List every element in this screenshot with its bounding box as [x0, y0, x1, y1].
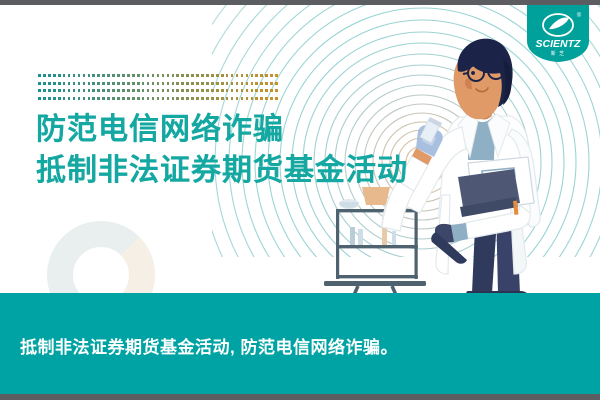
- grid-dot: [216, 82, 219, 85]
- grid-dot: [275, 82, 278, 85]
- grid-dot: [172, 82, 175, 85]
- grid-dot: [38, 97, 41, 100]
- grid-dot: [43, 97, 46, 100]
- grid-dot: [206, 82, 209, 85]
- grid-dot: [270, 74, 273, 77]
- grid-dot: [38, 82, 41, 85]
- grid-dot: [186, 89, 189, 92]
- grid-dot: [53, 74, 56, 77]
- grid-dot: [255, 74, 258, 77]
- grid-dot: [58, 97, 61, 100]
- grid-dot: [216, 74, 219, 77]
- grid-dot: [73, 74, 76, 77]
- grid-dot: [172, 74, 175, 77]
- grid-dot: [38, 89, 41, 92]
- grid-dot: [260, 82, 263, 85]
- grid-dot: [251, 74, 254, 77]
- grid-dot: [251, 89, 254, 92]
- grid-dot: [152, 82, 155, 85]
- grid-dot: [221, 74, 224, 77]
- grid-dot: [241, 89, 244, 92]
- grid-dot: [83, 97, 86, 100]
- grid-dot: [58, 89, 61, 92]
- grid-dot: [147, 89, 150, 92]
- grid-dot: [73, 97, 76, 100]
- grid-dot: [176, 82, 179, 85]
- grid-dot: [226, 97, 229, 100]
- grid-dot: [162, 97, 165, 100]
- grid-dot: [117, 82, 120, 85]
- grid-dot: [112, 74, 115, 77]
- grid-dot: [167, 89, 170, 92]
- grid-dot: [221, 97, 224, 100]
- grid-dot: [43, 82, 46, 85]
- grid-dot: [241, 74, 244, 77]
- grid-dot: [112, 82, 115, 85]
- grid-dot: [216, 89, 219, 92]
- grid-dot: [246, 89, 249, 92]
- grid-dot: [48, 82, 51, 85]
- grid-dot: [216, 97, 219, 100]
- grid-dot: [122, 89, 125, 92]
- grid-dot: [48, 89, 51, 92]
- grid-dot: [88, 82, 91, 85]
- grid-dot: [265, 89, 268, 92]
- grid-dot: [78, 89, 81, 92]
- grid-dot: [157, 97, 160, 100]
- grid-dot: [63, 82, 66, 85]
- banner-slogan: 抵制非法证券期货基金活动, 防范电信网络诈骗。: [20, 333, 398, 358]
- grid-dot: [127, 82, 130, 85]
- grid-dot: [97, 82, 100, 85]
- grid-dot: [191, 97, 194, 100]
- grid-dot: [255, 89, 258, 92]
- grid-dot: [102, 89, 105, 92]
- grid-dot: [68, 89, 71, 92]
- poster-artboard: 防范电信网络诈骗 抵制非法证券期货基金活动: [0, 5, 600, 394]
- grid-dot: [211, 89, 214, 92]
- grid-dot: [88, 89, 91, 92]
- grid-dot: [137, 82, 140, 85]
- grid-dot: [92, 82, 95, 85]
- grid-dot: [112, 89, 115, 92]
- grid-dot: [83, 89, 86, 92]
- grid-dot: [107, 89, 110, 92]
- grid-dot: [127, 97, 130, 100]
- grid-dot: [92, 74, 95, 77]
- grid-dot: [68, 74, 71, 77]
- grid-dot: [226, 82, 229, 85]
- grid-dot: [176, 97, 179, 100]
- grid-dot: [181, 89, 184, 92]
- grid-dot: [157, 74, 160, 77]
- grid-dot: [117, 89, 120, 92]
- grid-dot: [270, 97, 273, 100]
- dot-grid-decoration: [37, 72, 279, 102]
- bottom-banner: 抵制非法证券期货基金活动, 防范电信网络诈骗。: [0, 293, 600, 394]
- grid-dot: [122, 97, 125, 100]
- grid-dot: [191, 82, 194, 85]
- grid-dot: [270, 82, 273, 85]
- grid-dot: [231, 89, 234, 92]
- grid-dot: [107, 82, 110, 85]
- grid-dot: [53, 82, 56, 85]
- grid-dot: [132, 97, 135, 100]
- grid-dot: [58, 82, 61, 85]
- grid-dot: [122, 82, 125, 85]
- grid-dot: [196, 74, 199, 77]
- grid-dot: [78, 82, 81, 85]
- grid-dot: [236, 89, 239, 92]
- grid-dot: [196, 89, 199, 92]
- grid-dot: [191, 74, 194, 77]
- grid-dot: [102, 74, 105, 77]
- grid-dot: [63, 74, 66, 77]
- grid-dot: [48, 97, 51, 100]
- grid-dot: [92, 97, 95, 100]
- grid-dot: [176, 74, 179, 77]
- grid-dot: [53, 97, 56, 100]
- grid-dot: [260, 97, 263, 100]
- grid-dot: [137, 97, 140, 100]
- grid-dot: [162, 89, 165, 92]
- grid-dot: [201, 82, 204, 85]
- grid-dot: [63, 89, 66, 92]
- headline-line-2: 抵制非法证券期货基金活动: [36, 150, 408, 191]
- grid-dot: [236, 74, 239, 77]
- grid-dot: [186, 74, 189, 77]
- grid-dot: [251, 82, 254, 85]
- grid-dot: [181, 74, 184, 77]
- grid-dot: [132, 89, 135, 92]
- page-title: 防范电信网络诈骗 抵制非法证券期货基金活动: [36, 109, 408, 192]
- grid-dot: [92, 89, 95, 92]
- grid-dot: [142, 74, 145, 77]
- grid-dot: [206, 97, 209, 100]
- headline-line-1: 防范电信网络诈骗: [36, 109, 408, 150]
- grid-dot: [167, 74, 170, 77]
- grid-dot: [211, 82, 214, 85]
- grid-dot: [181, 97, 184, 100]
- grid-dot: [176, 89, 179, 92]
- grid-dot: [236, 82, 239, 85]
- grid-dot: [132, 74, 135, 77]
- grid-dot: [275, 89, 278, 92]
- grid-dot: [147, 74, 150, 77]
- grid-dot: [196, 97, 199, 100]
- grid-dot: [127, 89, 130, 92]
- grid-dot: [211, 97, 214, 100]
- grid-dot: [206, 89, 209, 92]
- grid-dot: [43, 74, 46, 77]
- scientz-logo[interactable]: SCIENTZ 新 芝 ®: [527, 5, 589, 62]
- grid-dot: [58, 74, 61, 77]
- registered-mark-icon: ®: [577, 12, 582, 19]
- grid-dot: [97, 74, 100, 77]
- grid-dot: [83, 82, 86, 85]
- grid-dot: [231, 82, 234, 85]
- grid-dot: [152, 97, 155, 100]
- grid-dot: [43, 89, 46, 92]
- grid-dot: [88, 74, 91, 77]
- grid-dot: [167, 97, 170, 100]
- grid-dot: [172, 89, 175, 92]
- grid-dot: [255, 82, 258, 85]
- grid-dot: [206, 74, 209, 77]
- grid-dot: [231, 97, 234, 100]
- grid-dot: [78, 74, 81, 77]
- grid-dot: [122, 74, 125, 77]
- grid-dot: [260, 74, 263, 77]
- grid-dot: [78, 97, 81, 100]
- grid-dot: [226, 74, 229, 77]
- grid-dot: [275, 74, 278, 77]
- grid-dot: [137, 89, 140, 92]
- grid-dot: [83, 74, 86, 77]
- grid-dot: [97, 89, 100, 92]
- grid-dot: [97, 97, 100, 100]
- grid-dot: [241, 82, 244, 85]
- grid-dot: [68, 97, 71, 100]
- grid-dot: [147, 97, 150, 100]
- grid-dot: [63, 97, 66, 100]
- grid-dot: [246, 97, 249, 100]
- grid-dot: [142, 82, 145, 85]
- grid-dot: [275, 97, 278, 100]
- grid-dot: [167, 82, 170, 85]
- logo-subbrand-text: 新 芝: [551, 50, 565, 57]
- bottom-chrome-bar: [0, 394, 600, 400]
- grid-dot: [255, 97, 258, 100]
- grid-dot: [231, 74, 234, 77]
- grid-dot: [201, 74, 204, 77]
- grid-dot: [127, 74, 130, 77]
- grid-dot: [191, 89, 194, 92]
- grid-dot: [260, 89, 263, 92]
- grid-dot: [132, 82, 135, 85]
- grid-dot: [68, 82, 71, 85]
- grid-dot: [186, 97, 189, 100]
- grid-dot: [102, 97, 105, 100]
- grid-dot: [152, 74, 155, 77]
- grid-dot: [265, 74, 268, 77]
- grid-dot: [48, 74, 51, 77]
- grid-dot: [107, 74, 110, 77]
- grid-dot: [88, 97, 91, 100]
- grid-dot: [186, 82, 189, 85]
- grid-dot: [137, 74, 140, 77]
- grid-dot: [162, 82, 165, 85]
- grid-dot: [221, 89, 224, 92]
- grid-dot: [246, 82, 249, 85]
- grid-dot: [152, 89, 155, 92]
- grid-dot: [201, 97, 204, 100]
- grid-dot: [107, 97, 110, 100]
- logo-brand-text: SCIENTZ: [536, 38, 582, 50]
- grid-dot: [142, 97, 145, 100]
- grid-dot: [241, 97, 244, 100]
- grid-dot: [211, 74, 214, 77]
- grid-dot: [112, 97, 115, 100]
- grid-dot: [226, 89, 229, 92]
- grid-dot: [221, 82, 224, 85]
- grid-dot: [201, 89, 204, 92]
- grid-dot: [117, 97, 120, 100]
- grid-dot: [142, 89, 145, 92]
- grid-dot: [251, 97, 254, 100]
- grid-dot: [73, 89, 76, 92]
- grid-dot: [236, 97, 239, 100]
- grid-dot: [73, 82, 76, 85]
- grid-dot: [172, 97, 175, 100]
- grid-dot: [147, 82, 150, 85]
- grid-dot: [157, 89, 160, 92]
- grid-dot: [53, 89, 56, 92]
- grid-dot: [162, 74, 165, 77]
- grid-dot: [157, 82, 160, 85]
- grid-dot: [38, 74, 41, 77]
- poster-canvas: 防范电信网络诈骗 抵制非法证券期货基金活动: [0, 0, 600, 400]
- grid-dot: [265, 82, 268, 85]
- grid-dot: [181, 82, 184, 85]
- grid-dot: [270, 89, 273, 92]
- grid-dot: [196, 82, 199, 85]
- grid-dot: [265, 97, 268, 100]
- grid-dot: [117, 74, 120, 77]
- grid-dot: [102, 82, 105, 85]
- grid-dot: [246, 74, 249, 77]
